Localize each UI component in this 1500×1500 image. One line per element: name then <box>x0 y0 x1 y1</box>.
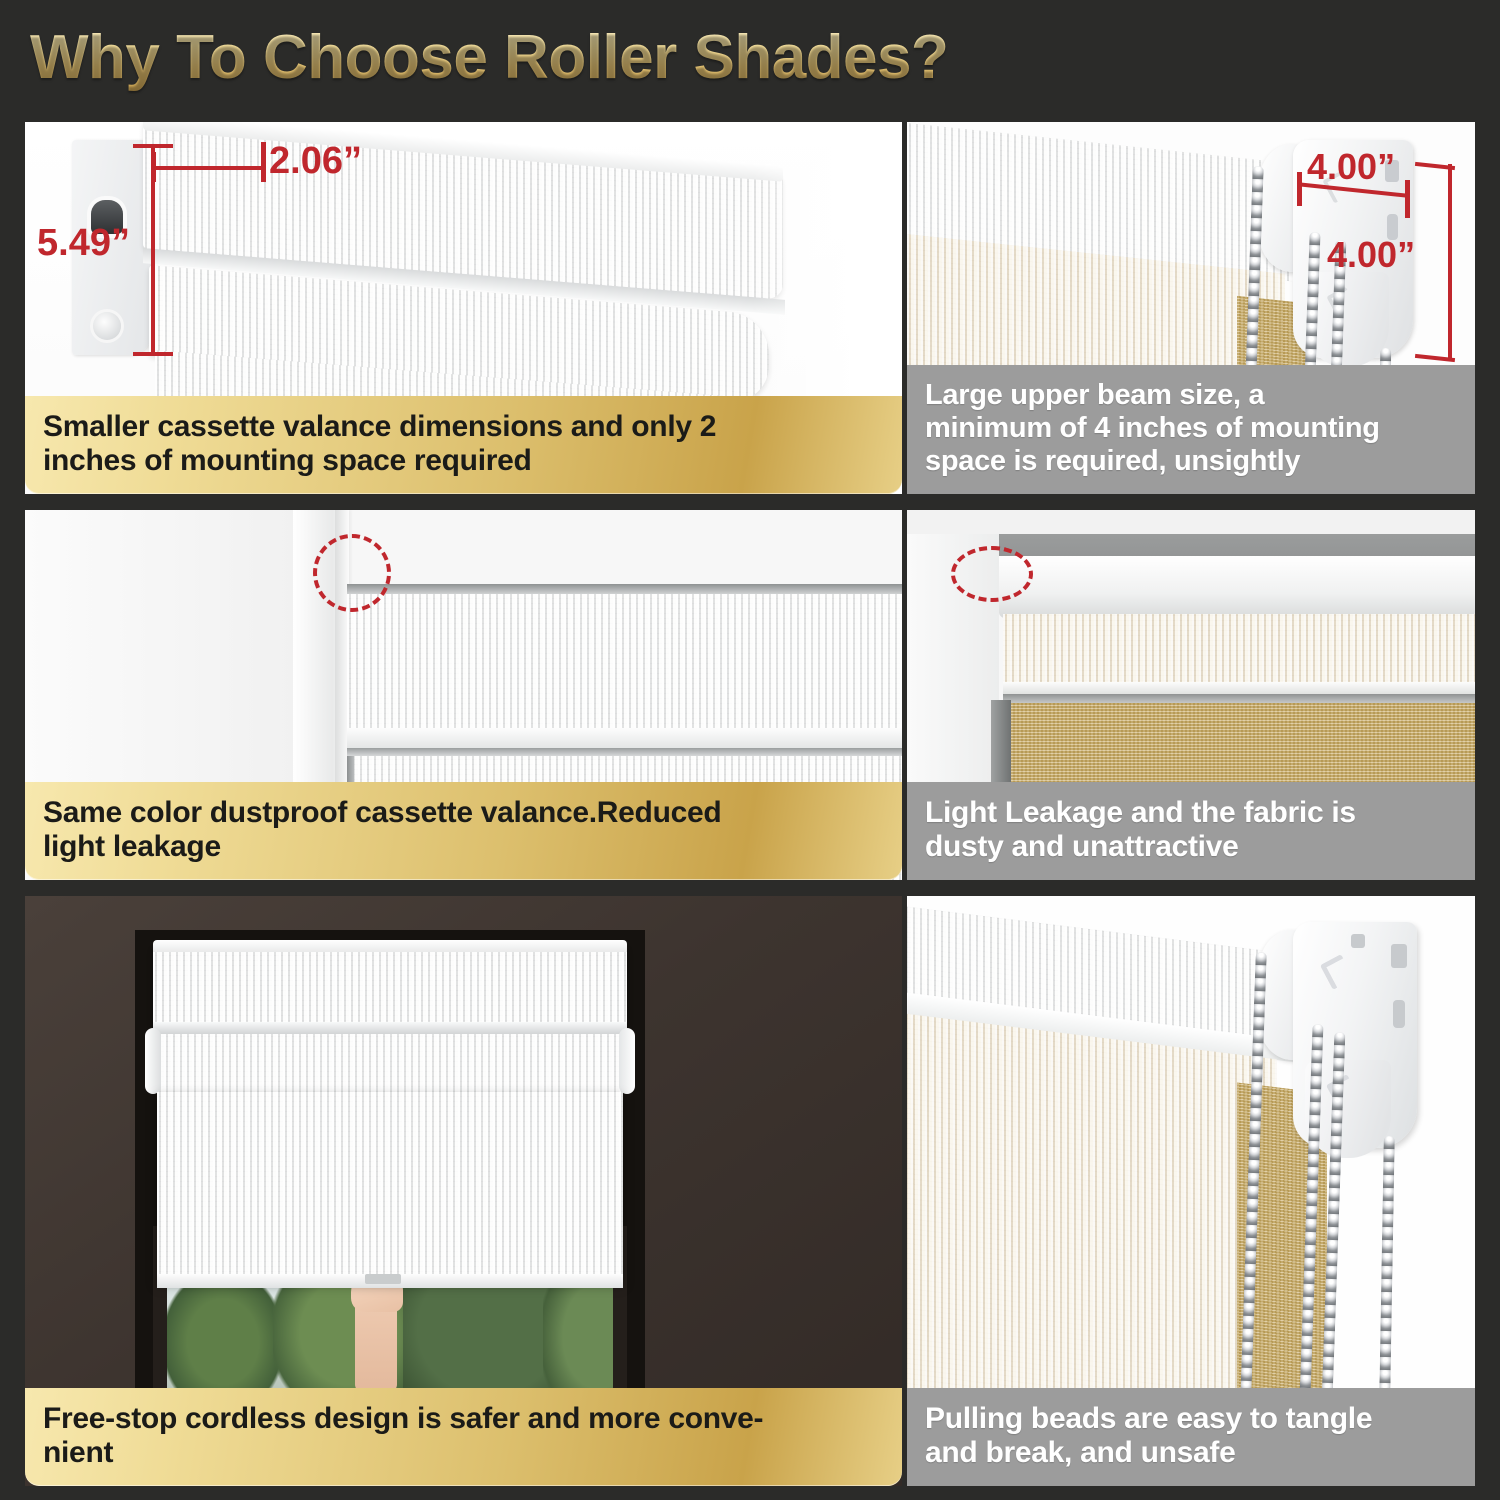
panel-dustproof-cassette-gap: smaller gap Same color dustproof cassett… <box>25 510 902 880</box>
width-dimension-label: 2.06” <box>269 140 362 183</box>
caption-line: Pulling beads are easy to tangle <box>925 1402 1459 1436</box>
height-dimension-line <box>151 144 155 356</box>
caption-line: Light Leakage and the fabric is <box>925 796 1459 830</box>
caption-line: nient <box>43 1436 886 1470</box>
detail-highlight-circle <box>951 546 1033 602</box>
caption-line: Same color dustproof cassette valance.Re… <box>43 796 886 830</box>
caption-line: Smaller cassette valance dimensions and … <box>43 410 886 444</box>
panel-cordless-free-stop-design: Free-stop cordless design is safer and m… <box>25 896 902 1486</box>
panel-caption-bad: Light Leakage and the fabric is dusty an… <box>907 782 1475 880</box>
panel-caption-bad: Pulling beads are easy to tangle and bre… <box>907 1388 1475 1486</box>
caption-line: Free-stop cordless design is safer and m… <box>43 1402 886 1436</box>
panel-cassette-valance-dimensions: 2.06” 5.49” Smaller cassette valance dim… <box>25 122 902 494</box>
panel-pulling-beads-tangle: Pulling beads are easy to tangle and bre… <box>907 896 1475 1486</box>
width-dimension-tick-right <box>261 142 266 182</box>
height-dimension-cap-top <box>133 144 173 148</box>
caption-line: Large upper beam size, a <box>925 379 1459 412</box>
detail-highlight-circle <box>313 534 391 612</box>
panel-caption-good: Free-stop cordless design is safer and m… <box>25 1388 902 1486</box>
beam-height-label: 4.00” <box>1327 234 1415 276</box>
caption-line: and break, and unsafe <box>925 1436 1459 1470</box>
comparison-grid: 2.06” 5.49” Smaller cassette valance dim… <box>0 110 1500 1500</box>
panel-large-upper-beam: 4.00” 4.00” Large upper beam size, a min… <box>907 122 1475 494</box>
caption-line: inches of mounting space required <box>43 444 886 478</box>
caption-line: dusty and unattractive <box>925 830 1459 864</box>
beam-height-line <box>1448 164 1452 360</box>
page-title: Why To Choose Roller Shades? <box>30 22 1130 94</box>
beam-width-tick-left <box>1297 172 1302 206</box>
caption-line: light leakage <box>43 830 886 864</box>
panel-caption-bad: Large upper beam size, a minimum of 4 in… <box>907 365 1475 494</box>
caption-line: minimum of 4 inches of mounting <box>925 412 1459 445</box>
height-dimension-label: 5.49” <box>37 222 130 265</box>
page-title-text: Why To Choose Roller Shades? <box>30 22 1130 93</box>
beam-width-tick-right <box>1405 180 1410 218</box>
caption-line: space is required, unsightly <box>925 445 1459 478</box>
panel-light-leakage-dusty-fabric: Large gap Light Leakage and the fabric i… <box>907 510 1475 880</box>
width-dimension-line <box>153 166 263 170</box>
height-dimension-cap-bottom <box>133 352 173 356</box>
beam-width-label: 4.00” <box>1307 146 1395 188</box>
panel-caption-good: Same color dustproof cassette valance.Re… <box>25 782 902 880</box>
panel-caption-good: Smaller cassette valance dimensions and … <box>25 396 902 494</box>
